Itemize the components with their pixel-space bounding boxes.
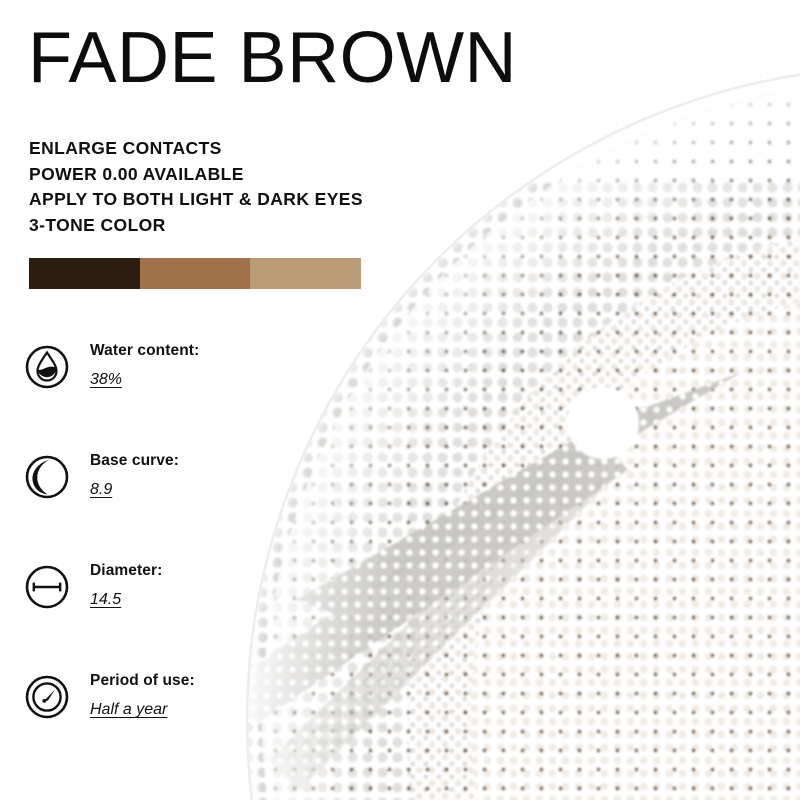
feature-line: 3-TONE COLOR (29, 213, 469, 239)
diameter-ruler-icon (24, 564, 70, 610)
color-swatch-light-tan (250, 258, 361, 289)
crescent-moon-icon (24, 454, 70, 500)
feature-line: APPLY TO BOTH LIGHT & DARK EYES (29, 187, 469, 213)
spec-value: 8.9 (90, 480, 112, 500)
spec-value: Half a year (90, 700, 167, 720)
water-drop-icon (24, 344, 70, 390)
spec-value: 14.5 (90, 590, 121, 610)
lens-highlight-wedges (216, 372, 742, 790)
feature-line: POWER 0.00 AVAILABLE (29, 162, 469, 188)
spec-label: Base curve: (90, 450, 290, 471)
spec-row-period-of-use: Period of use: Half a year (24, 670, 284, 730)
spec-label: Period of use: (90, 670, 290, 691)
spec-row-diameter: Diameter: 14.5 (24, 560, 284, 620)
spec-label: Diameter: (90, 560, 290, 581)
spec-text: Period of use: Half a year (90, 670, 290, 720)
color-swatch-bar (29, 258, 361, 289)
spec-text: Water content: 38% (90, 340, 290, 390)
color-swatch-medium-brown (140, 258, 251, 289)
spec-row-base-curve: Base curve: 8.9 (24, 450, 284, 510)
page-title: FADE BROWN (28, 18, 517, 98)
spec-value: 38% (90, 370, 122, 390)
product-infographic: FADE BROWN ENLARGE CONTACTS POWER 0.00 A… (0, 0, 800, 800)
color-swatch-dark-brown (29, 258, 140, 289)
spec-row-water-content: Water content: 38% (24, 340, 284, 400)
lens-pupil-hole (567, 387, 639, 459)
feature-line: ENLARGE CONTACTS (29, 136, 469, 162)
spec-text: Base curve: 8.9 (90, 450, 290, 500)
spec-label: Water content: (90, 340, 290, 361)
spec-text: Diameter: 14.5 (90, 560, 290, 610)
gauge-icon (24, 674, 70, 720)
feature-list: ENLARGE CONTACTS POWER 0.00 AVAILABLE AP… (29, 136, 469, 238)
